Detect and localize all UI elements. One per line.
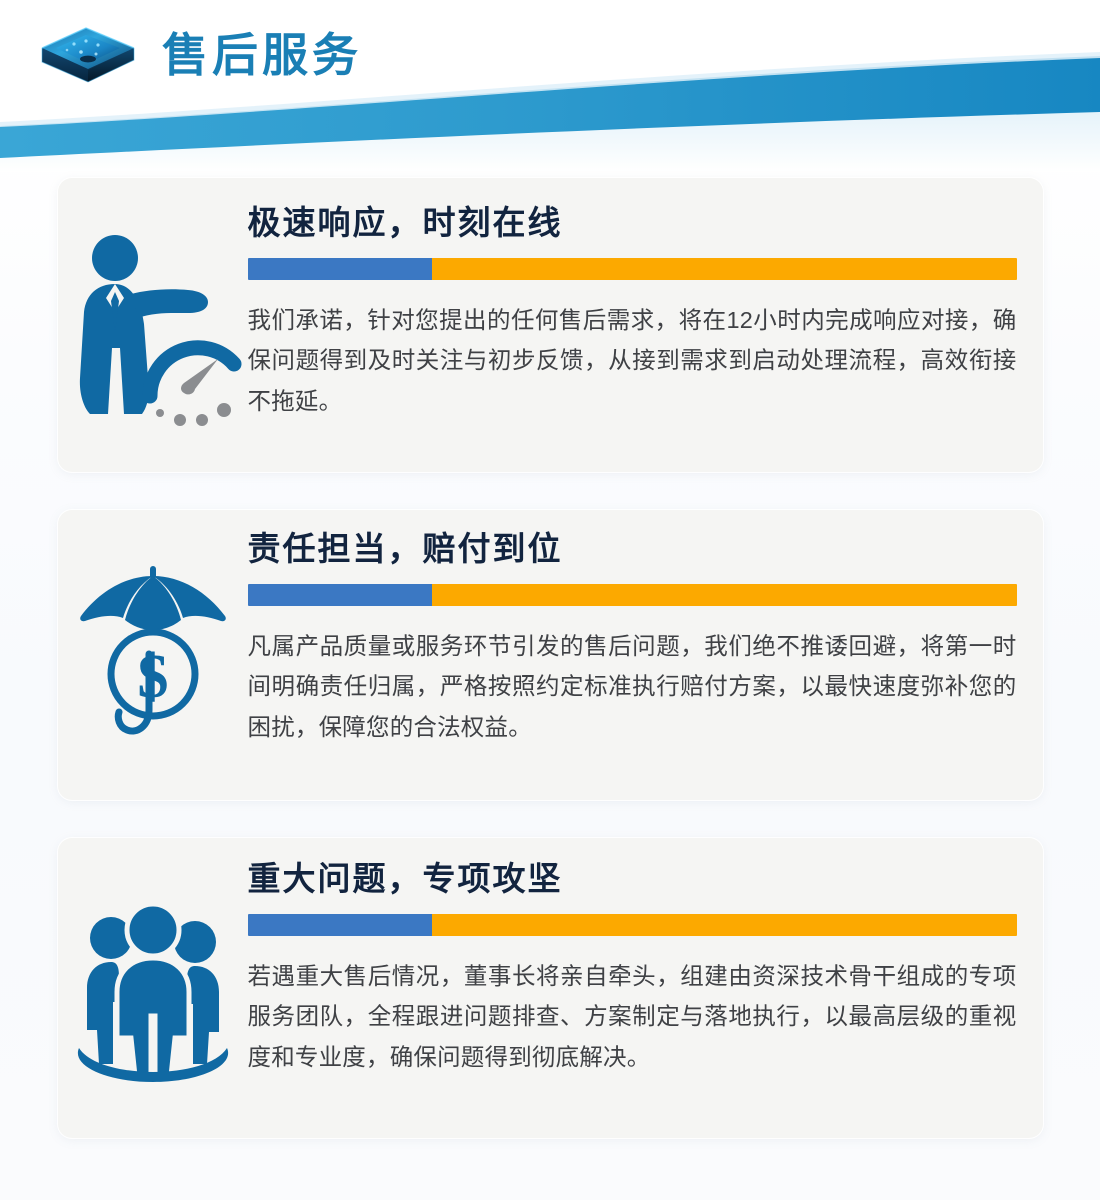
progress-bar	[248, 914, 1017, 936]
service-card-title: 责任担当，赔付到位	[248, 530, 1017, 568]
service-card-body: 极速响应，时刻在线 我们承诺，针对您提出的任何售后需求，将在12小时内完成响应对…	[248, 196, 1043, 421]
service-card-body: 重大问题，专项攻坚 若遇重大售后情况，董事长将亲自牵头，组建由资深技术骨干组成的…	[248, 856, 1043, 1077]
page-title: 售后服务	[162, 32, 362, 78]
service-card-text: 凡属产品质量或服务环节引发的售后问题，我们绝不推诿回避，将第一时间明确责任归属，…	[248, 626, 1017, 747]
umbrella-with-dollar-coin-icon: $	[58, 552, 248, 758]
progress-bar-blue-segment	[248, 258, 433, 280]
service-card[interactable]: 重大问题，专项攻坚 若遇重大售后情况，董事长将亲自牵头，组建由资深技术骨干组成的…	[58, 838, 1043, 1138]
service-card-body: 责任担当，赔付到位 凡属产品质量或服务环节引发的售后问题，我们绝不推诿回避，将第…	[248, 528, 1043, 747]
service-cards-list: 极速响应，时刻在线 我们承诺，针对您提出的任何售后需求，将在12小时内完成响应对…	[0, 178, 1100, 1176]
progress-bar-orange-segment	[432, 584, 1016, 606]
service-card[interactable]: $ 责任担当，赔付到位 凡属产品质量或服务环节引发的售后问题，我们绝不推诿回避，…	[58, 510, 1043, 800]
service-card-text: 若遇重大售后情况，董事长将亲自牵头，组建由资深技术骨干组成的专项服务团队，全程跟…	[248, 956, 1017, 1077]
progress-bar-blue-segment	[248, 914, 433, 936]
service-card-text: 我们承诺，针对您提出的任何售后需求，将在12小时内完成响应对接，确保问题得到及时…	[248, 300, 1017, 421]
progress-bar-blue-segment	[248, 584, 433, 606]
header-brand: 售后服务	[36, 22, 362, 88]
team-of-three-people-icon	[58, 892, 248, 1084]
service-card-title: 重大问题，专项攻坚	[248, 860, 1017, 898]
svg-text:$: $	[137, 643, 168, 711]
hot-tub-spa-product-icon	[36, 22, 140, 88]
progress-bar-orange-segment	[432, 914, 1016, 936]
service-card[interactable]: 极速响应，时刻在线 我们承诺，针对您提出的任何售后需求，将在12小时内完成响应对…	[58, 178, 1043, 472]
progress-bar	[248, 258, 1017, 280]
progress-bar-orange-segment	[432, 258, 1016, 280]
progress-bar	[248, 584, 1017, 606]
businessman-pointing-at-speedometer-icon	[58, 222, 248, 428]
service-card-title: 极速响应，时刻在线	[248, 204, 1017, 242]
page-header: 售后服务	[0, 0, 1100, 172]
